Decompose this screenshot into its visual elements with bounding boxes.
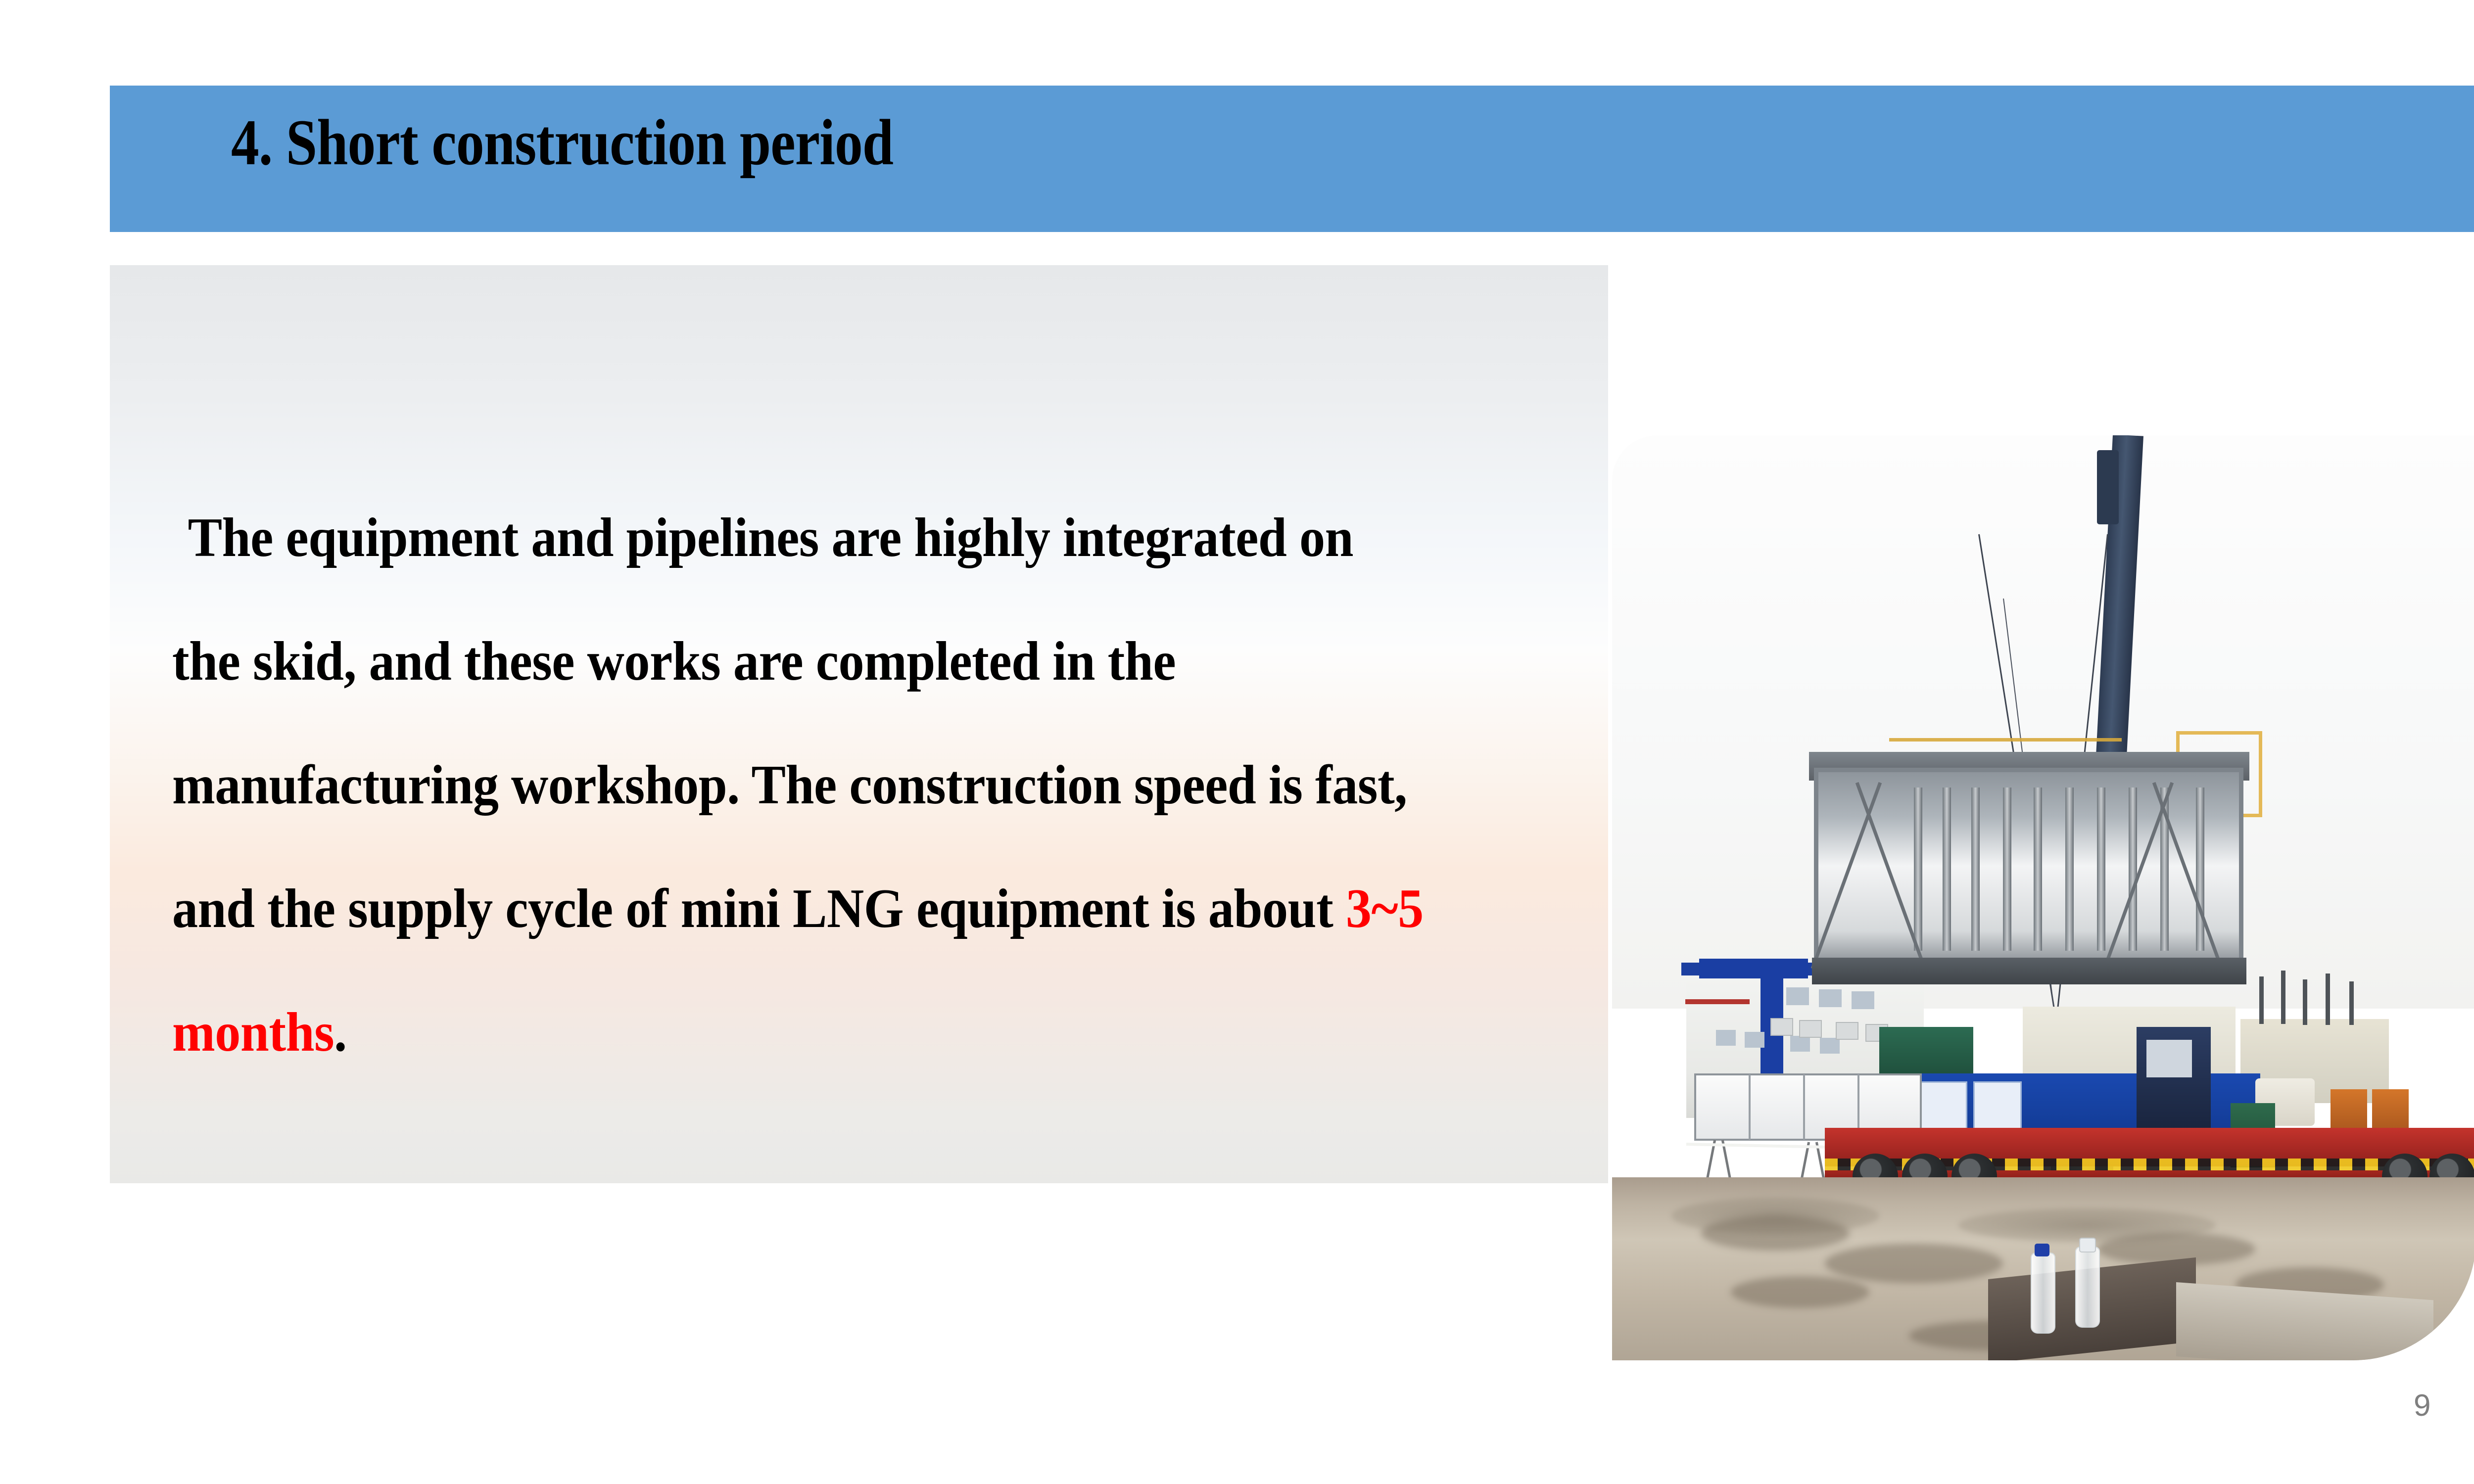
- construction-photo: [1612, 435, 2474, 1360]
- skid-pipe-1: [1914, 788, 1922, 951]
- water-bottle-cap-2: [2079, 1238, 2096, 1252]
- window-5: [1745, 1032, 1764, 1048]
- skid-pipe-7: [2097, 788, 2105, 951]
- safety-poster-2: [1973, 1081, 2022, 1132]
- crane-truck-window: [2146, 1040, 2192, 1077]
- red-trim-stripe: [1685, 999, 1750, 1004]
- window-7: [1820, 1038, 1840, 1054]
- stack-1: [2259, 976, 2264, 1024]
- skid-pipe-4: [2003, 788, 2011, 951]
- window-3: [1852, 991, 1874, 1009]
- skid-pipe-2: [1943, 788, 1951, 951]
- skid-pipe-10: [2196, 788, 2204, 951]
- body-line-4-suffix: .: [334, 1002, 347, 1063]
- stack-3: [2303, 979, 2307, 1025]
- air-conditioner-2: [1799, 1020, 1822, 1038]
- skid-pipe-3: [1971, 788, 1980, 951]
- lng-skid-module: [1814, 768, 2243, 980]
- body-paragraph: The equipment and pipelines are highly i…: [172, 476, 1424, 1094]
- window-6: [1790, 1036, 1810, 1052]
- title-label: Short construction period: [272, 106, 893, 179]
- title-banner: 4. Short construction period: [110, 86, 2474, 232]
- window-1: [1786, 987, 1809, 1005]
- mud-patch-3: [1731, 1276, 1869, 1308]
- body-line-4-prefix: cycle of mini LNG equipment is about: [505, 878, 1346, 939]
- skid-pipe-6: [2065, 788, 2074, 951]
- barrier-divider-2: [1803, 1074, 1805, 1140]
- blue-gate-beam: [1699, 959, 1808, 978]
- puddle-1: [1671, 1197, 1879, 1235]
- barrier-divider-1: [1749, 1074, 1751, 1140]
- water-bottle-1: [2031, 1252, 2055, 1334]
- stack-5: [2349, 981, 2354, 1025]
- crane-hook-block: [2097, 450, 2119, 524]
- safety-poster-1: [1919, 1081, 1967, 1132]
- mud-patch-2: [1825, 1244, 2003, 1283]
- window-4: [1716, 1030, 1736, 1046]
- window-2: [1819, 989, 1842, 1007]
- stack-2: [2281, 971, 2285, 1024]
- page-number: 9: [2414, 1388, 2430, 1423]
- photo-scene: [1612, 435, 2474, 1360]
- page-title: 4. Short construction period: [231, 110, 893, 175]
- title-number: 4.: [231, 106, 272, 179]
- air-conditioner-1: [1770, 1018, 1793, 1036]
- water-bottle-2: [2075, 1247, 2100, 1328]
- stack-4: [2326, 974, 2330, 1025]
- skid-pipe-8: [2129, 788, 2137, 951]
- skid-pipe-5: [2034, 788, 2042, 951]
- skid-base-deck: [1812, 958, 2246, 984]
- air-conditioner-3: [1836, 1022, 1858, 1040]
- water-bottle-cap-1: [2035, 1244, 2049, 1256]
